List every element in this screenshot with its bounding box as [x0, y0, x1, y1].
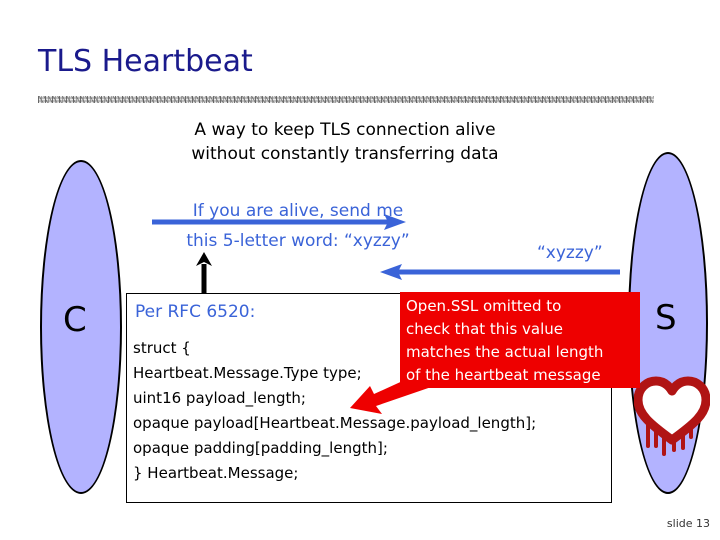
intro-line-2: without constantly transferring data: [130, 142, 560, 166]
arrow-right-icon: [152, 212, 406, 232]
callout-line: matches the actual length: [406, 341, 640, 364]
server-label: S: [655, 298, 677, 338]
reply-label: “xyzzy”: [537, 243, 603, 263]
intro-text: A way to keep TLS connection alive witho…: [130, 118, 560, 166]
intro-line-1: A way to keep TLS connection alive: [130, 118, 560, 142]
callout-line: check that this value: [406, 318, 640, 341]
title-divider: [38, 96, 654, 103]
arrow-left-icon: [380, 262, 620, 282]
client-label: C: [63, 300, 87, 340]
callout-line: Open.SSL omitted to: [406, 295, 640, 318]
page-title: TLS Heartbeat: [38, 44, 253, 79]
code-line: } Heartbeat.Message;: [133, 461, 609, 486]
code-heading: Per RFC 6520:: [135, 302, 255, 322]
callout-box: Open.SSL omitted to check that this valu…: [400, 292, 640, 388]
callout-line: of the heartbeat message: [406, 364, 640, 387]
bleeding-heart-icon: [634, 374, 710, 456]
code-line: opaque padding[padding_length];: [133, 436, 609, 461]
slide-canvas: TLS Heartbeat C S A way to keep TLS conn…: [0, 0, 720, 540]
code-line: opaque payload[Heartbeat.Message.payload…: [133, 411, 609, 436]
slide-number: slide 13: [667, 517, 710, 530]
